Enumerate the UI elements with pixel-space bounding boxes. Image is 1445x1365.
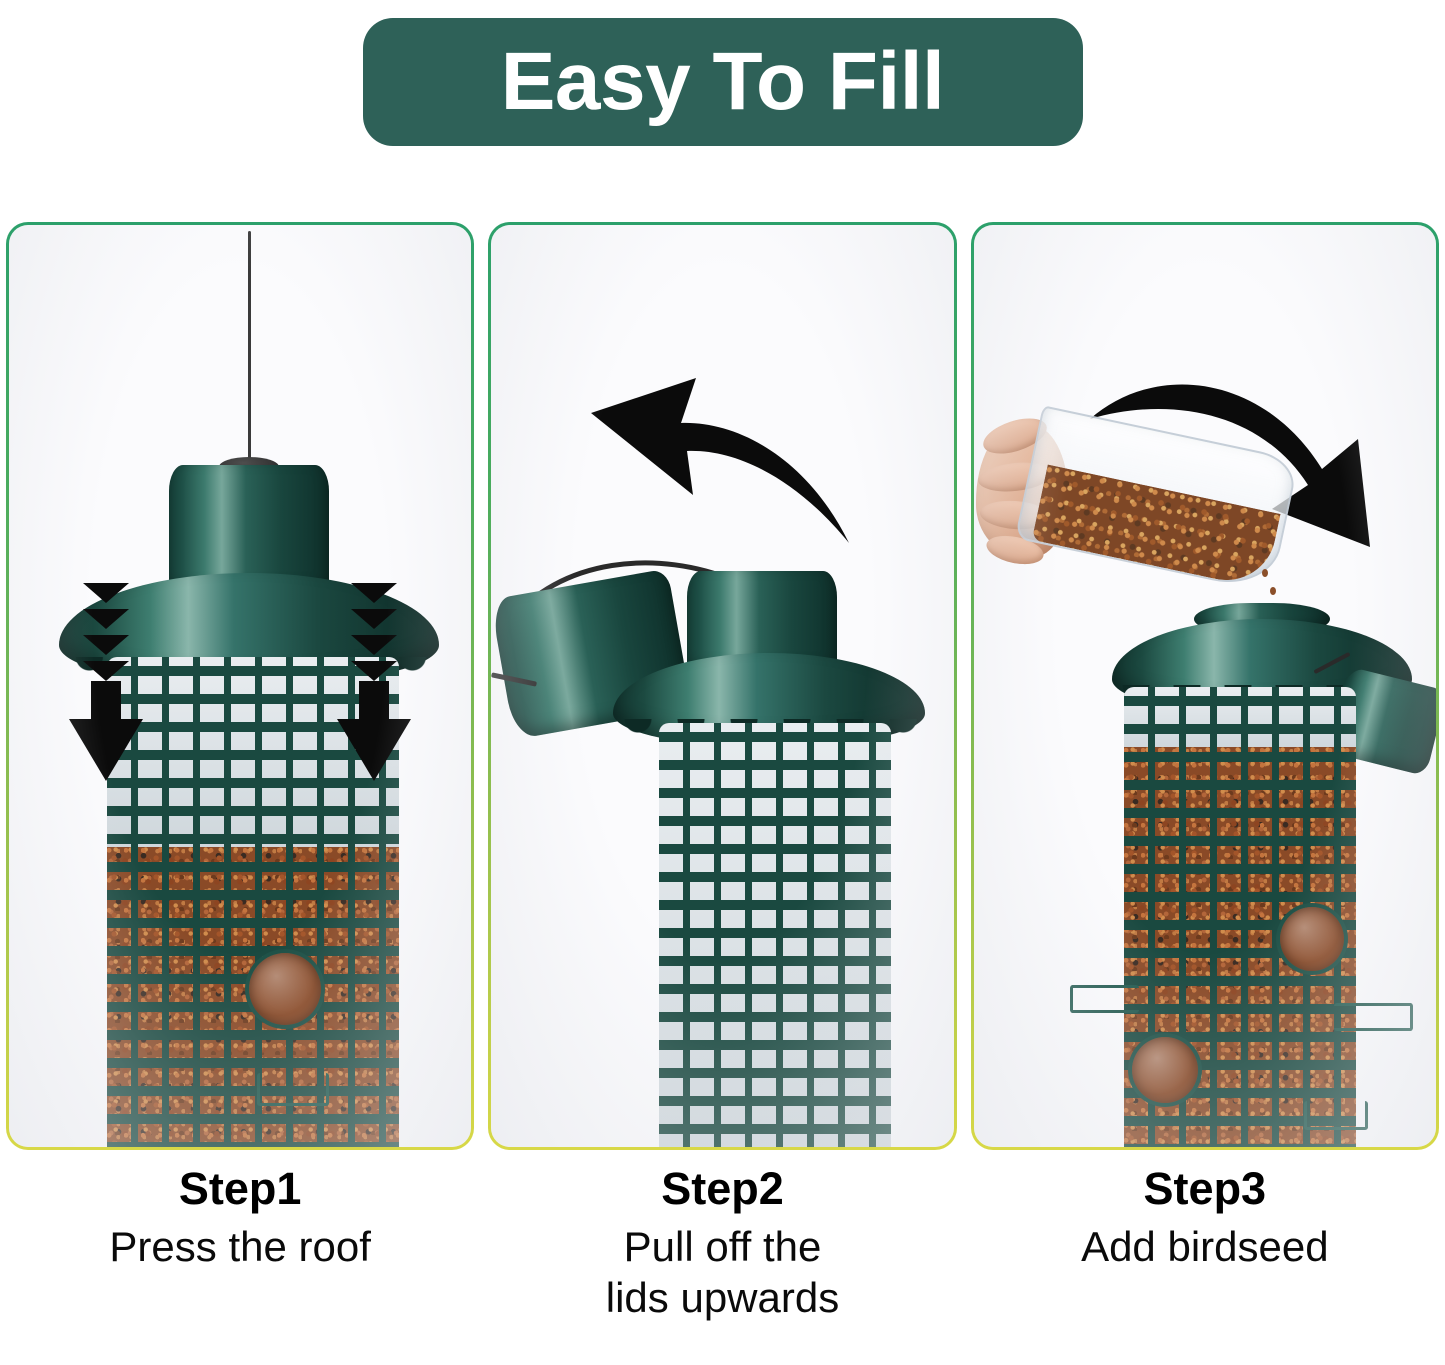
falling-seed	[1262, 569, 1268, 577]
down-arrow-left	[67, 583, 145, 783]
chevron-icon	[351, 661, 397, 681]
page-title: Easy To Fill	[501, 41, 945, 123]
hanging-wire	[248, 231, 251, 469]
step-3-description-line-1: Add birdseed	[971, 1221, 1439, 1272]
step-panels-row	[0, 222, 1445, 1150]
caption-step-1: Step1 Press the roof	[6, 1162, 474, 1324]
falling-seed	[1270, 587, 1276, 595]
product-photo-step-1	[9, 225, 471, 1147]
feeder-perch-front	[257, 1073, 329, 1106]
caption-step-2: Step2 Pull off the lids upwards	[488, 1162, 956, 1324]
feeder-port-upper-right	[1280, 907, 1344, 971]
arrow-head-icon	[337, 719, 411, 781]
chevron-icon	[83, 661, 129, 681]
curved-arrow-up-left-icon	[561, 351, 901, 571]
down-arrow-right	[335, 583, 413, 783]
step-1-description-line-1: Press the roof	[6, 1221, 474, 1272]
product-photo-step-2	[491, 225, 953, 1147]
step-panel-2	[488, 222, 956, 1150]
step-2-description-line-2: lids upwards	[488, 1272, 956, 1323]
step-panel-2-inner	[491, 225, 953, 1147]
step-captions-row: Step1 Press the roof Step2 Pull off the …	[0, 1162, 1445, 1324]
feeder-perch-left	[1070, 985, 1139, 1013]
chevron-icon	[351, 583, 397, 603]
step-panel-1-inner	[9, 225, 471, 1147]
chevron-icon	[351, 609, 397, 629]
feeder-perch-lower-right	[1304, 1101, 1368, 1130]
product-photo-step-3	[974, 225, 1436, 1147]
step-1-label: Step1	[6, 1162, 474, 1215]
arrow-head-icon	[69, 719, 143, 781]
cage-vertical-ribs	[659, 723, 891, 1147]
step-2-description-line-1: Pull off the	[488, 1221, 956, 1272]
feeder-port-lower-left	[1132, 1037, 1198, 1103]
step-panel-3-inner	[974, 225, 1436, 1147]
step-panel-3	[971, 222, 1439, 1150]
feeder-perch-right	[1334, 1003, 1413, 1031]
chevron-icon	[83, 583, 129, 603]
chevron-icon	[83, 609, 129, 629]
chevron-icon	[351, 635, 397, 655]
header-banner-area: Easy To Fill	[0, 0, 1445, 155]
feeder-port-front	[249, 953, 321, 1025]
feeder-cage-body	[659, 723, 891, 1147]
header-banner: Easy To Fill	[363, 18, 1083, 146]
chevron-icon	[83, 635, 129, 655]
step-panel-1	[6, 222, 474, 1150]
step-2-label: Step2	[488, 1162, 956, 1215]
caption-step-3: Step3 Add birdseed	[971, 1162, 1439, 1324]
step-3-label: Step3	[971, 1162, 1439, 1215]
